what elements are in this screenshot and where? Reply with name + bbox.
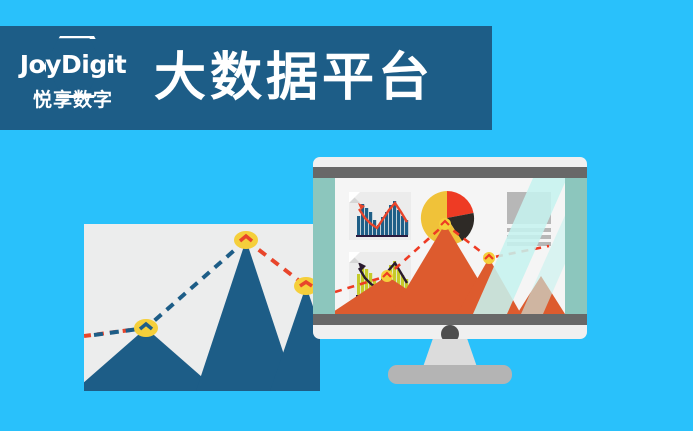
- screen-band-right: [565, 178, 587, 314]
- screen-band-left: [313, 178, 335, 314]
- monitor-bottom-bezel: [313, 314, 587, 325]
- poster-canvas: JoyDigit 悦享数字 大数据平台: [0, 0, 693, 431]
- left-mountain-chart: [84, 224, 320, 391]
- logo-wordmark: JoyDigit: [20, 52, 127, 77]
- mountain-small-left: [84, 328, 218, 391]
- monitor-screen: [313, 178, 587, 314]
- page-title: 大数据平台: [154, 52, 434, 104]
- data-marker-1: [134, 319, 158, 337]
- desktop-monitor: [313, 157, 587, 339]
- card-fold-corner: [349, 192, 360, 203]
- orange-mountain-chart: [335, 214, 565, 314]
- left-chart-panel: [84, 224, 320, 391]
- monitor-top-bezel: [313, 167, 587, 178]
- orange-mountain-far-right: [517, 276, 565, 314]
- data-marker-2: [234, 231, 258, 249]
- monitor-stand: [423, 339, 477, 367]
- monitor-base: [388, 365, 512, 384]
- brand-logo: JoyDigit 悦享数字: [14, 32, 132, 124]
- header-banner: JoyDigit 悦享数字 大数据平台: [0, 26, 492, 130]
- logo-subtitle: 悦享数字: [33, 91, 113, 110]
